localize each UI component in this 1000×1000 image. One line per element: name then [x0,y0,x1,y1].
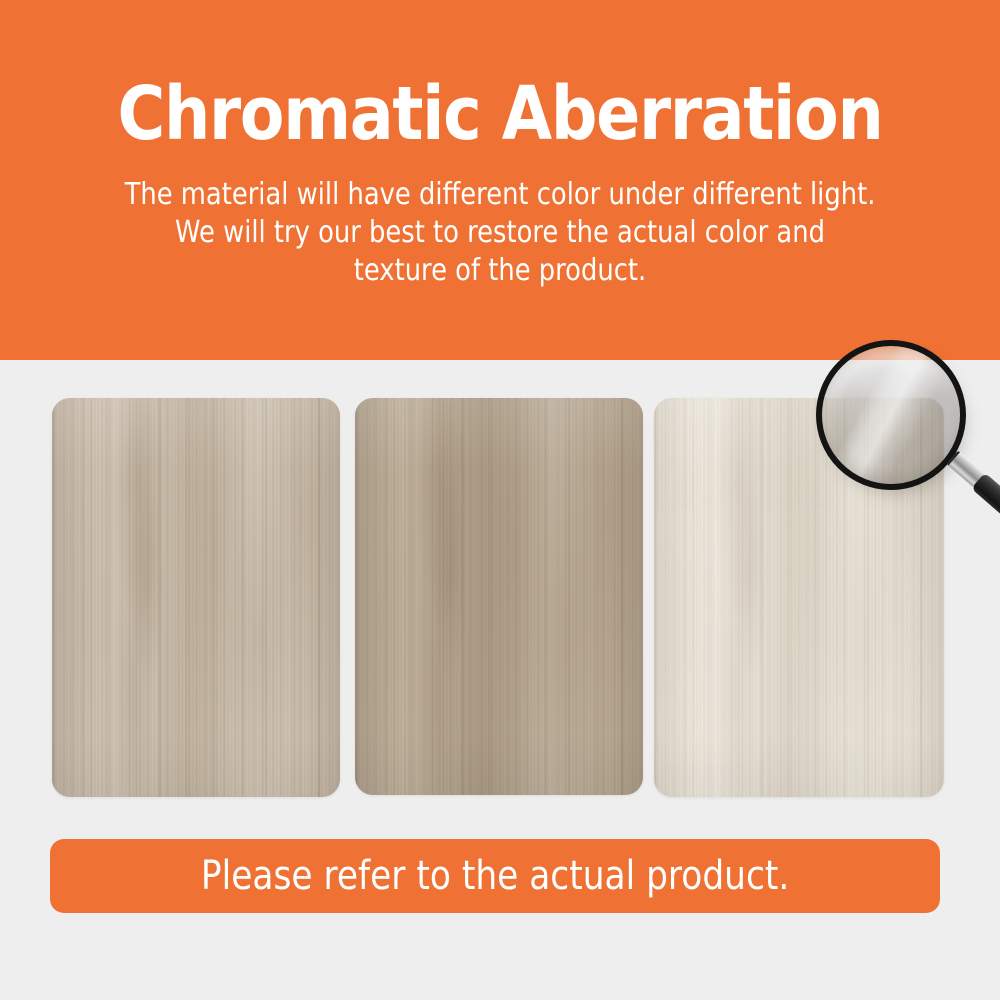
subtitle-line-1: The material will have different color u… [70,176,930,214]
wood-sample-2 [355,398,643,795]
subtitle-line-2: We will try our best to restore the actu… [70,214,930,252]
subtitle-line-3: texture of the product. [70,252,930,290]
wood-sample-3 [654,398,944,797]
wood-sample-1 [52,398,340,797]
cta-label: Please refer to the actual product. [201,854,789,898]
header-band: Chromatic Aberration The material will h… [0,0,1000,360]
cta-banner: Please refer to the actual product. [50,839,940,913]
header-subtitle: The material will have different color u… [0,176,1000,290]
chromatic-aberration-infographic: Chromatic Aberration The material will h… [0,0,1000,1000]
page-title: Chromatic Aberration [60,72,940,156]
